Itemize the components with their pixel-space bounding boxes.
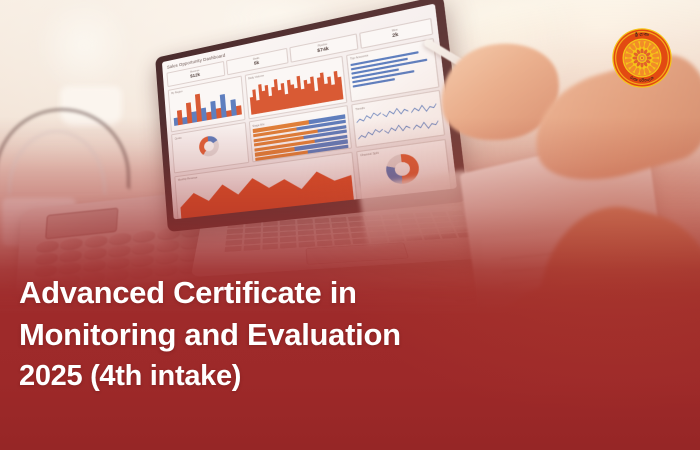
- headline: Advanced Certificate in Monitoring and E…: [19, 272, 659, 397]
- course-promo-banner: Sales Opportunity Dashboard Revenue $12k…: [0, 0, 700, 450]
- headline-line-1: Advanced Certificate in: [19, 272, 659, 314]
- headline-line-3: 2025 (4th intake): [19, 357, 659, 397]
- institution-seal-icon: ශ්‍රී ලංකා රාජ්‍ය පරිපාලන: [611, 27, 673, 89]
- headline-line-2: Monitoring and Evaluation: [19, 314, 659, 356]
